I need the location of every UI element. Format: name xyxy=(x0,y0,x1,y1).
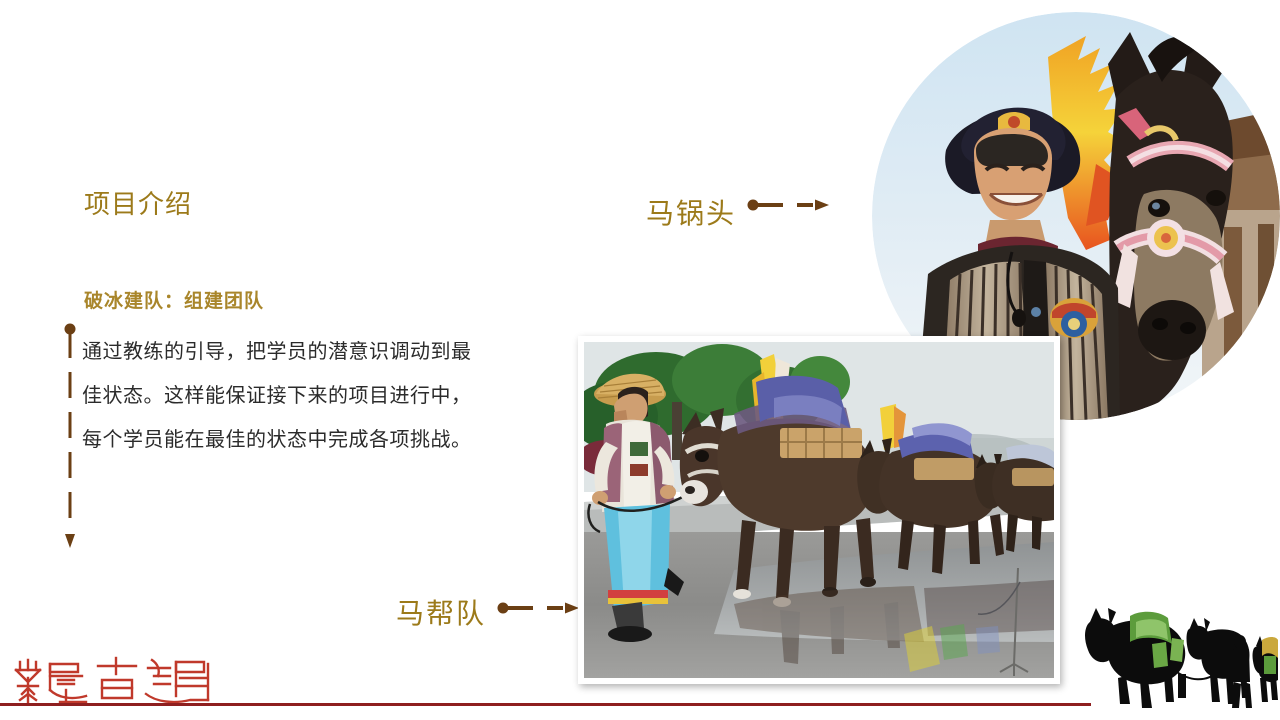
body-paragraph: 通过教练的引导，把学员的潜意识调动到最佳状态。这样能保证接下来的项目进行中，每个… xyxy=(82,330,482,462)
slide-canvas: 项目介绍 破冰建队：组建团队 通过教练的引导，把学员的潜意识调动到最佳状态。这样… xyxy=(0,0,1280,720)
footer-divider xyxy=(0,703,1091,706)
brand-logo xyxy=(14,650,226,706)
horizontal-dashed-arrow-icon-bottom xyxy=(497,596,581,620)
callout-label-top: 马锅头 xyxy=(646,192,736,232)
caravan-silhouette-image xyxy=(1078,604,1278,720)
section-subtitle: 破冰建队：组建团队 xyxy=(84,286,264,313)
framed-photo-caravan xyxy=(578,336,1060,684)
vertical-dashed-arrow-icon xyxy=(63,322,81,550)
horizontal-dashed-arrow-icon-top xyxy=(747,193,831,217)
page-title: 项目介绍 xyxy=(84,184,192,221)
callout-label-bottom: 马帮队 xyxy=(396,592,486,632)
